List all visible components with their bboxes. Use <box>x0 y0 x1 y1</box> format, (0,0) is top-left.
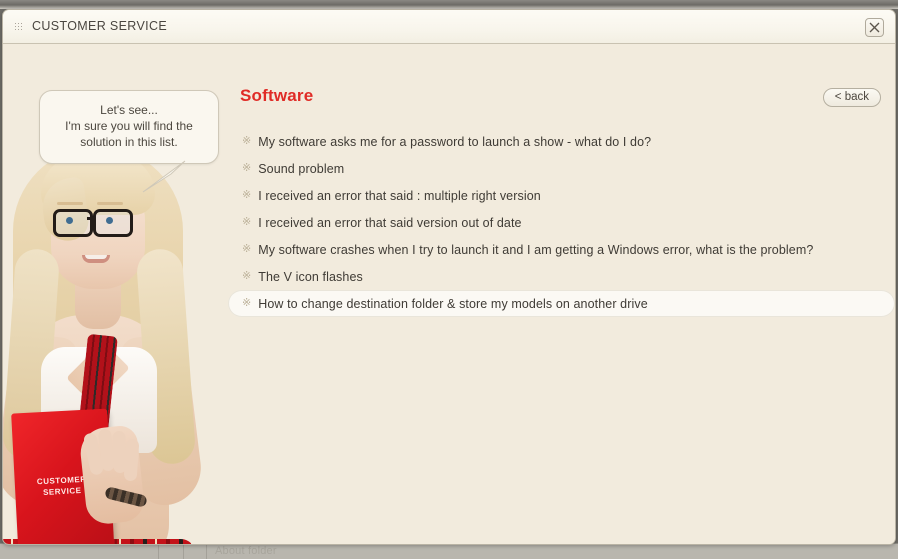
faq-list: ※My software asks me for a password to l… <box>228 128 895 317</box>
faq-list-item[interactable]: ※I received an error that said : multipl… <box>228 182 895 209</box>
back-button[interactable]: < back <box>823 88 881 107</box>
list-bullet-icon: ※ <box>242 190 251 201</box>
list-bullet-icon: ※ <box>242 244 251 255</box>
list-bullet-icon: ※ <box>242 136 251 147</box>
list-bullet-icon: ※ <box>242 163 251 174</box>
faq-list-item-label: The V icon flashes <box>258 270 363 284</box>
desktop-background-window[interactable] <box>0 543 898 559</box>
dialog-title: CUSTOMER SERVICE <box>32 19 167 33</box>
faq-list-item[interactable]: ※I received an error that said version o… <box>228 209 895 236</box>
page-title: Software <box>240 86 313 106</box>
customer-service-dialog: CUSTOMER SERVICE <box>2 9 896 545</box>
faq-list-item-label: My software asks me for a password to la… <box>258 135 651 149</box>
speech-bubble: Let's see... I'm sure you will find the … <box>39 90 219 164</box>
speech-bubble-text: Let's see... I'm sure you will find the … <box>40 102 218 150</box>
list-bullet-icon: ※ <box>242 217 251 228</box>
close-icon[interactable] <box>865 18 884 37</box>
desktop-background-label: About folder <box>215 545 277 557</box>
assistant-photo: CUSTOMER SERVICE <box>3 139 228 544</box>
desktop-column-divider <box>183 544 184 559</box>
faq-list-item-label: How to change destination folder & store… <box>258 297 648 311</box>
faq-list-item[interactable]: ※My software crashes when I try to launc… <box>228 236 895 263</box>
desktop-column-divider <box>206 544 207 559</box>
faq-list-item-label: My software crashes when I try to launch… <box>258 243 813 257</box>
faq-list-item-label: Sound problem <box>258 162 344 176</box>
content-panel: Software < back ※My software asks me for… <box>228 44 895 544</box>
list-bullet-icon: ※ <box>242 271 251 282</box>
faq-list-item[interactable]: ※How to change destination folder & stor… <box>228 290 895 317</box>
faq-list-item[interactable]: ※My software asks me for a password to l… <box>228 128 895 155</box>
faq-list-item-label: I received an error that said : multiple… <box>258 189 541 203</box>
assistant-panel: CUSTOMER SERVICE Let's see... I'm sure y… <box>3 44 228 544</box>
dialog-titlebar[interactable]: CUSTOMER SERVICE <box>3 10 895 44</box>
faq-list-item[interactable]: ※Sound problem <box>228 155 895 182</box>
desktop-top-strip <box>0 0 898 9</box>
faq-list-item-label: I received an error that said version ou… <box>258 216 521 230</box>
desktop-column-divider <box>158 544 159 559</box>
list-bullet-icon: ※ <box>242 298 251 309</box>
grip-dots-icon <box>15 23 23 31</box>
dialog-body: CUSTOMER SERVICE Let's see... I'm sure y… <box>3 44 895 544</box>
screen: About folder CUSTOMER SERVICE <box>0 0 898 559</box>
faq-list-item[interactable]: ※The V icon flashes <box>228 263 895 290</box>
